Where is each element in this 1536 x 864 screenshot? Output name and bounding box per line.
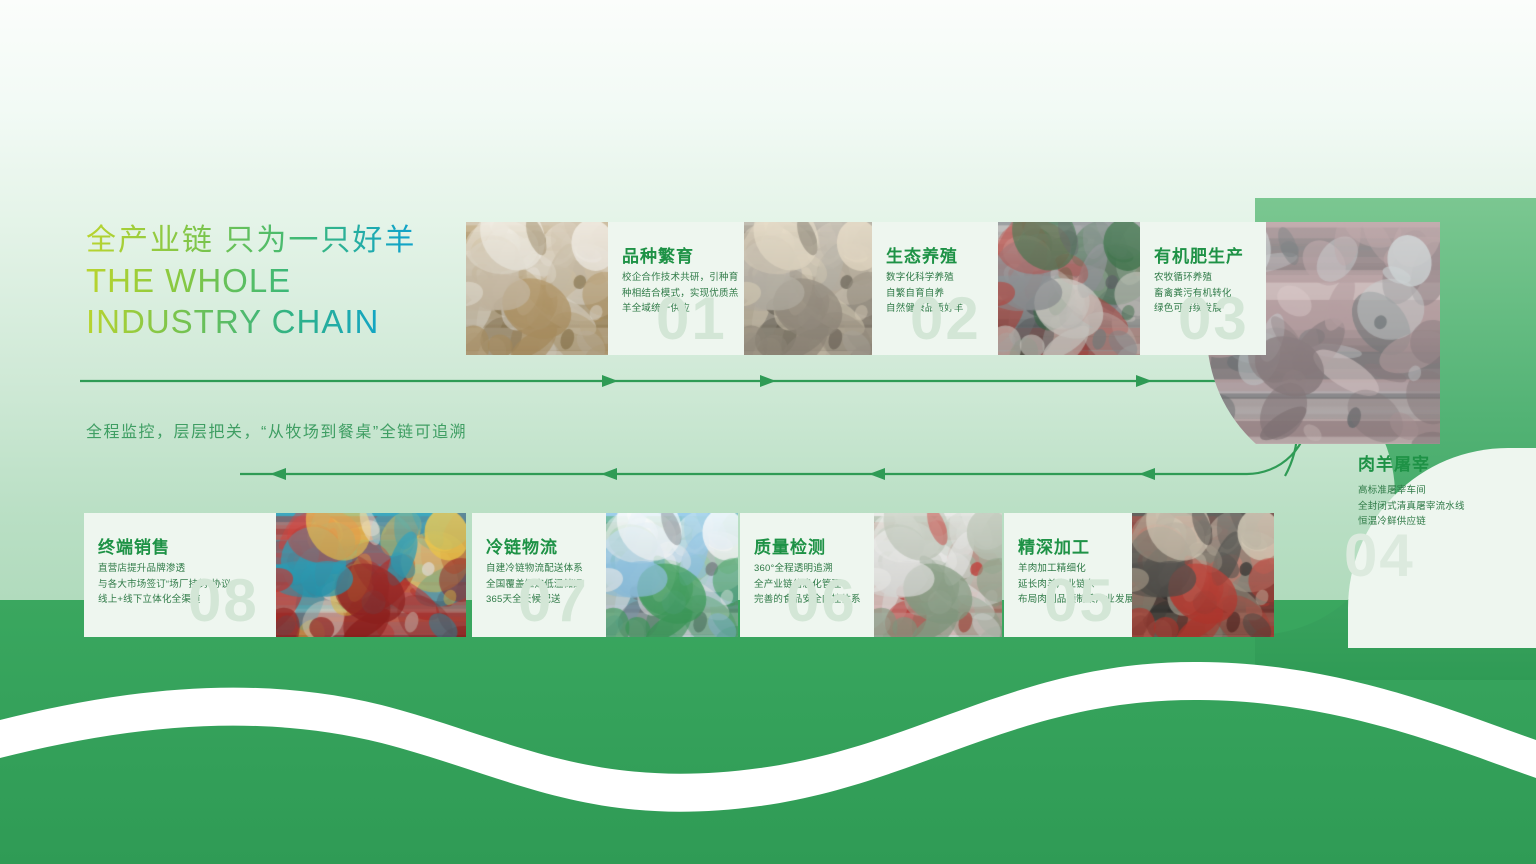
title-english-line1: THE WHOLE xyxy=(86,260,486,301)
tagline: 全程监控，层层把关，“从牧场到餐桌”全链可追溯 xyxy=(86,418,467,442)
step-title: 冷链物流 xyxy=(486,533,558,558)
step-description-line: 高标准屠宰车间 xyxy=(1358,483,1536,499)
step-title: 生态养殖 xyxy=(886,242,958,267)
page-title-block: 全产业链 只为一只好羊 THE WHOLE INDUSTRY CHAIN xyxy=(86,222,486,342)
flow-arrow-left xyxy=(270,468,286,480)
step-title: 有机肥生产 xyxy=(1154,242,1244,267)
flow-arrow-right xyxy=(602,375,618,387)
step-description-line: 校企合作技术共研，引种育 xyxy=(622,270,738,286)
step-description-line: 农牧循环养殖 xyxy=(1154,270,1232,286)
step-number: 04 xyxy=(1344,526,1415,586)
step-photo-01 xyxy=(466,222,608,355)
infographic-canvas: 全产业链 只为一只好羊 THE WHOLE INDUSTRY CHAIN 全程监… xyxy=(0,0,1536,864)
step-photo-03 xyxy=(998,222,1140,355)
step-title: 终端销售 xyxy=(98,533,170,558)
step-number: 01 xyxy=(656,289,727,349)
step-title: 精深加工 xyxy=(1018,533,1090,558)
title-chinese: 全产业链 只为一只好羊 xyxy=(86,222,486,260)
flow-arrow-left xyxy=(869,468,885,480)
step-card-02[interactable]: 生态养殖数字化科学养殖自繁自育自养自然健康品质好羊02 xyxy=(872,222,998,355)
step-title: 质量检测 xyxy=(754,533,826,558)
step-photo-02 xyxy=(744,222,872,355)
step-description-line: 数字化科学养殖 xyxy=(886,270,964,286)
step-description-line: 全封闭式清真屠宰流水线 xyxy=(1358,499,1536,515)
flow-arrow-right xyxy=(760,375,776,387)
title-english-line2: INDUSTRY CHAIN xyxy=(86,301,486,342)
step-card-03[interactable]: 有机肥生产农牧循环养殖畜禽粪污有机转化绿色可持续发展03 xyxy=(1140,222,1266,355)
flow-arrow-right xyxy=(1136,375,1152,387)
step-number: 02 xyxy=(910,289,981,349)
step-card-01[interactable]: 品种繁育校企合作技术共研，引种育种相结合模式，实现优质羔羊全域统一供应01 xyxy=(608,222,744,355)
flow-arrow-left xyxy=(601,468,617,480)
flow-arrow-left xyxy=(1139,468,1155,480)
step-title: 肉羊屠宰 xyxy=(1358,450,1536,475)
step-title: 品种繁育 xyxy=(622,242,694,267)
step-number: 03 xyxy=(1178,289,1249,349)
decorative-wave xyxy=(0,600,1536,864)
